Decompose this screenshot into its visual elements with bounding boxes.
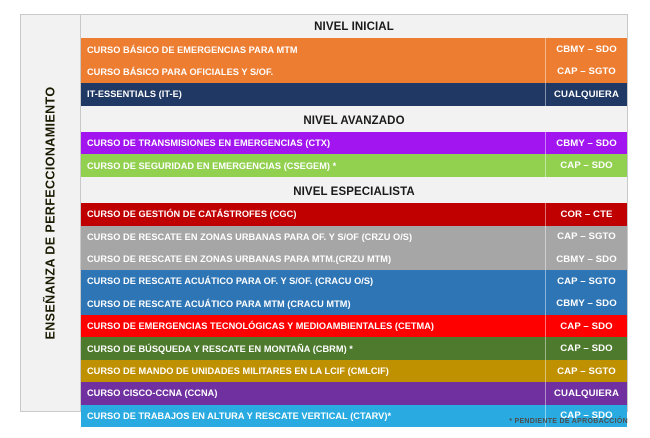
course-row[interactable]: CURSO DE EMERGENCIAS TECNOLÓGICAS Y MEDI…: [81, 315, 627, 337]
course-rank-badge: CAP – SGTO: [545, 61, 627, 83]
course-rank-badge: CBMY – SDO: [545, 293, 627, 315]
section-title: NIVEL ESPECIALISTA: [81, 181, 627, 203]
course-name: IT-ESSENTIALS (IT-E): [81, 83, 545, 105]
course-row[interactable]: CURSO DE SEGURIDAD EN EMERGENCIAS (CSEGE…: [81, 154, 627, 176]
course-name: CURSO BÁSICO PARA OFICIALES Y S/OF.: [81, 61, 545, 83]
course-rank-badge: CAP – SDO: [545, 315, 627, 337]
vertical-axis-label: ENSEÑANZA DE PERFECCIONAMIENTO: [21, 15, 81, 411]
course-name: CURSO DE TRANSMISIONES EN EMERGENCIAS (C…: [81, 132, 545, 154]
course-name: CURSO DE SEGURIDAD EN EMERGENCIAS (CSEGE…: [81, 154, 545, 176]
course-name: CURSO DE GESTIÓN DE CATÁSTROFES (CGC): [81, 203, 545, 225]
training-levels-chart: ENSEÑANZA DE PERFECCIONAMIENTO NIVEL INI…: [20, 14, 628, 412]
course-rank-badge: CBMY – SDO: [545, 248, 627, 270]
course-rank-badge: CAP – SGTO: [545, 360, 627, 382]
course-rank-badge: CUALQUIERA: [545, 83, 627, 105]
course-row[interactable]: CURSO DE TRANSMISIONES EN EMERGENCIAS (C…: [81, 132, 627, 154]
course-rank-badge: CUALQUIERA: [545, 382, 627, 404]
course-name: CURSO DE MANDO DE UNIDADES MILITARES EN …: [81, 360, 545, 382]
course-name: CURSO DE BÚSQUEDA Y RESCATE EN MONTAÑA (…: [81, 337, 545, 359]
section-header-row: NIVEL AVANZADO: [81, 110, 627, 132]
course-row[interactable]: CURSO DE RESCATE EN ZONAS URBANAS PARA O…: [81, 226, 627, 248]
course-name: CURSO DE RESCATE EN ZONAS URBANAS PARA M…: [81, 248, 545, 270]
section-title: NIVEL INICIAL: [81, 16, 627, 38]
course-rank-badge: COR – CTE: [545, 203, 627, 225]
course-rank-badge: CBMY – SDO: [545, 132, 627, 154]
section-header-row: NIVEL ESPECIALISTA: [81, 181, 627, 203]
course-row[interactable]: IT-ESSENTIALS (IT-E)CUALQUIERA: [81, 83, 627, 105]
course-name: CURSO DE RESCATE EN ZONAS URBANAS PARA O…: [81, 226, 545, 248]
course-rank-badge: CAP – SDO: [545, 154, 627, 176]
course-name: CURSO CISCO-CCNA (CCNA): [81, 382, 545, 404]
course-name: CURSO DE RESCATE ACUÁTICO PARA MTM (CRAC…: [81, 293, 545, 315]
course-row[interactable]: CURSO DE GESTIÓN DE CATÁSTROFES (CGC)COR…: [81, 203, 627, 225]
course-row[interactable]: CURSO DE RESCATE ACUÁTICO PARA MTM (CRAC…: [81, 293, 627, 315]
footnote-pending-approval: * PENDIENTE DE APROBACCIÓN: [509, 418, 628, 425]
section-header-row: NIVEL INICIAL: [81, 16, 627, 38]
section-title: NIVEL AVANZADO: [81, 110, 627, 132]
course-rank-badge: CAP – SGTO: [545, 226, 627, 248]
course-row[interactable]: CURSO CISCO-CCNA (CCNA)CUALQUIERA: [81, 382, 627, 404]
course-name: CURSO DE EMERGENCIAS TECNOLÓGICAS Y MEDI…: [81, 315, 545, 337]
course-row[interactable]: CURSO DE RESCATE EN ZONAS URBANAS PARA M…: [81, 248, 627, 270]
course-row[interactable]: CURSO DE RESCATE ACUÁTICO PARA OF. Y S/O…: [81, 270, 627, 292]
course-row[interactable]: CURSO BÁSICO PARA OFICIALES Y S/OF.CAP –…: [81, 61, 627, 83]
course-rank-badge: CAP – SDO: [545, 337, 627, 359]
course-row[interactable]: CURSO DE BÚSQUEDA Y RESCATE EN MONTAÑA (…: [81, 337, 627, 359]
course-row[interactable]: CURSO BÁSICO DE EMERGENCIAS PARA MTMCBMY…: [81, 38, 627, 60]
course-name: CURSO BÁSICO DE EMERGENCIAS PARA MTM: [81, 38, 545, 60]
course-rank-badge: CAP – SGTO: [545, 270, 627, 292]
course-name: CURSO DE TRABAJOS EN ALTURA Y RESCATE VE…: [81, 405, 545, 427]
course-rank-badge: CBMY – SDO: [545, 38, 627, 60]
rows-container: NIVEL INICIALCURSO BÁSICO DE EMERGENCIAS…: [81, 15, 627, 411]
axis-label-text: ENSEÑANZA DE PERFECCIONAMIENTO: [44, 87, 58, 340]
course-name: CURSO DE RESCATE ACUÁTICO PARA OF. Y S/O…: [81, 270, 545, 292]
course-row[interactable]: CURSO DE MANDO DE UNIDADES MILITARES EN …: [81, 360, 627, 382]
